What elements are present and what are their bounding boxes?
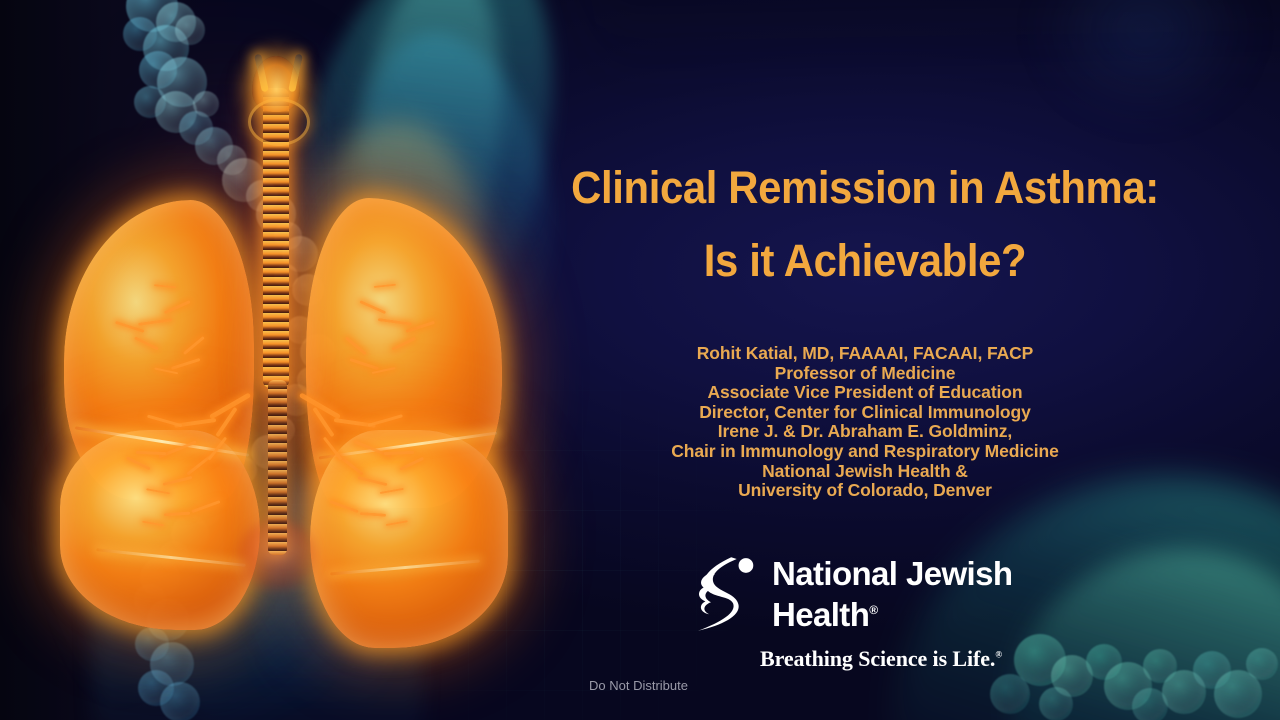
- glowing-lungs-illustration: [0, 0, 520, 720]
- logo-tagline: Breathing Science is Life.®: [760, 646, 1002, 672]
- author-line: Associate Vice President of Education: [520, 383, 1210, 403]
- author-line: Chair in Immunology and Respiratory Medi…: [520, 442, 1210, 462]
- larynx-ring: [248, 98, 310, 146]
- title-line-2: Is it Achievable?: [498, 225, 1233, 298]
- national-jewish-health-logo: National Jewish Health® Breathing Scienc…: [676, 546, 1016, 668]
- bokeh-circle: [1132, 688, 1168, 720]
- bokeh-circle: [1246, 648, 1278, 680]
- lung-lobe-lower-left: [60, 430, 260, 630]
- author-line: National Jewish Health &: [520, 462, 1210, 482]
- logo-word-line-1: National Jewish: [772, 556, 1012, 592]
- bokeh-circle: [1039, 687, 1073, 720]
- author-line: University of Colorado, Denver: [520, 481, 1210, 501]
- do-not-distribute-note: Do Not Distribute: [589, 678, 688, 693]
- registered-trademark-icon: ®: [869, 603, 877, 617]
- author-line: Professor of Medicine: [520, 364, 1210, 384]
- author-line: Irene J. & Dr. Abraham E. Goldminz,: [520, 422, 1210, 442]
- presentation-slide: Clinical Remission in Asthma: Is it Achi…: [0, 0, 1280, 720]
- title-line-1: Clinical Remission in Asthma:: [498, 152, 1233, 225]
- author-affiliation-block: Rohit Katial, MD, FAAAAI, FACAAI, FACP P…: [520, 344, 1210, 501]
- bokeh-circle: [990, 674, 1030, 714]
- logo-word-line-2: Health®: [772, 592, 1012, 633]
- slide-title: Clinical Remission in Asthma: Is it Achi…: [470, 152, 1260, 298]
- author-line: Rohit Katial, MD, FAAAAI, FACAAI, FACP: [520, 344, 1210, 364]
- helix-figure-icon: [676, 548, 768, 640]
- logo-word-health: Health: [772, 596, 869, 633]
- tagline-registered-trademark-icon: ®: [995, 650, 1002, 660]
- trachea-lower: [268, 380, 287, 555]
- author-line: Director, Center for Clinical Immunology: [520, 403, 1210, 423]
- logo-tagline-text: Breathing Science is Life.: [760, 646, 995, 671]
- logo-wordmark: National Jewish Health®: [772, 556, 1012, 633]
